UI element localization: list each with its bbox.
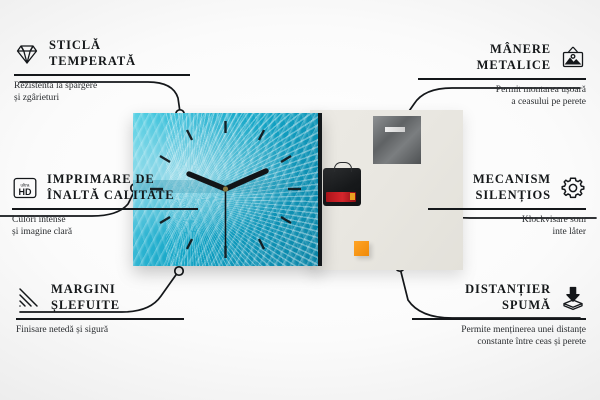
diamond-icon <box>14 41 40 67</box>
callout-title-line2: ȘLEFUITE <box>51 298 120 314</box>
callout-sticla-temperata: STICLĂ TEMPERATĂ Rezistentă la spargere … <box>14 38 190 104</box>
callout-rule <box>16 318 184 320</box>
hanger-slot <box>385 127 405 132</box>
callout-title-line2: METALICE <box>477 58 551 74</box>
callout-margini-slefuite: MARGINI ȘLEFUITE Finisare netedă și sigu… <box>16 282 184 336</box>
ultra-hd-large-text: HD <box>19 186 32 196</box>
callout-mecanism-silentios: MECANISM SILENȚIOS Klockvisare som inte … <box>428 172 586 238</box>
callout-title-line2: ÎNALTĂ CALITATE <box>47 188 175 204</box>
polished-edge-icon <box>16 285 42 311</box>
callout-manere-metalice: MÂNERE METALICE Permit montarea ușoară a… <box>418 42 586 108</box>
callout-imprimare-hd: ultra HD IMPRIMARE DE ÎNALTĂ CALITATE Cu… <box>12 172 198 238</box>
quartz-movement <box>323 168 361 206</box>
callout-rule <box>412 318 586 320</box>
callout-rule <box>418 78 586 80</box>
press-down-icon <box>560 285 586 311</box>
callout-title-line1: MECANISM <box>473 172 551 188</box>
callout-title-line1: MARGINI <box>51 282 120 298</box>
ultra-hd-icon: ultra HD <box>12 175 38 201</box>
callout-title-line1: IMPRIMARE DE <box>47 172 175 188</box>
callout-distantier-spuma: DISTANȚIER SPUMĂ Permite menținerea unei… <box>412 282 586 348</box>
red-battery <box>326 192 356 202</box>
hour-hand <box>226 171 267 189</box>
callout-subtitle: Rezistentă la spargere și zgârieturi <box>14 80 190 104</box>
movement-bail <box>334 162 352 172</box>
callout-rule <box>428 208 586 210</box>
battery-terminal <box>350 193 355 200</box>
callout-rule <box>14 74 190 76</box>
metal-hanger <box>373 116 421 164</box>
callout-title-line2: TEMPERATĂ <box>49 54 136 70</box>
callout-subtitle: Permite menținerea unei distanțe constan… <box>412 324 586 348</box>
callout-rule <box>12 208 198 210</box>
callout-subtitle: Permit montarea ușoară a ceasului pe per… <box>418 84 586 108</box>
orange-foam-spacer <box>354 241 369 256</box>
callout-title-line1: DISTANȚIER <box>465 282 551 298</box>
hands-hub <box>223 186 228 191</box>
hanging-frame-icon <box>560 45 586 71</box>
callout-subtitle: Klockvisare som inte låter <box>428 214 586 238</box>
callout-subtitle: Culori intense și imagine clară <box>12 214 198 238</box>
callout-title-line1: STICLĂ <box>49 38 136 54</box>
gear-icon <box>560 175 586 201</box>
infographic-canvas: STICLĂ TEMPERATĂ Rezistentă la spargere … <box>0 0 600 400</box>
callout-subtitle: Finisare netedă și sigură <box>16 324 184 336</box>
callout-title-line2: SPUMĂ <box>465 298 551 314</box>
callout-title-line2: SILENȚIOS <box>473 188 551 204</box>
callout-title-line1: MÂNERE <box>477 42 551 58</box>
